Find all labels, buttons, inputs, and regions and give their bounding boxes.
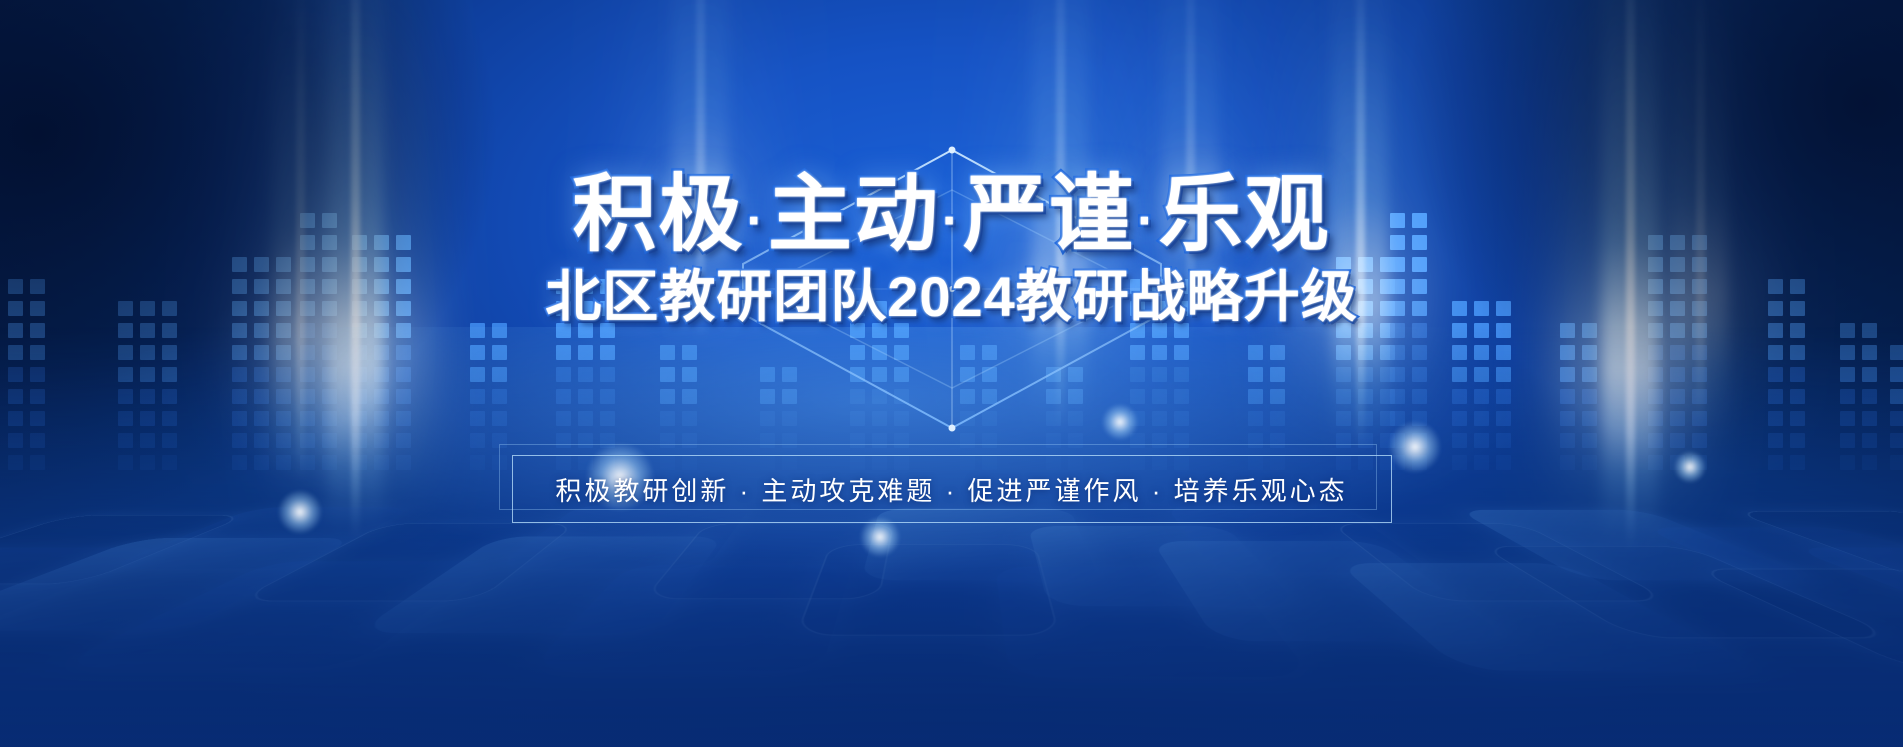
page-subtitle: 北区教研团队2024教研战略升级 xyxy=(545,266,1358,328)
page-title: 积极·主动·严谨·乐观 xyxy=(572,172,1330,256)
tagline-frame: 积极教研创新 · 主动攻克难题 · 促进严谨作风 · 培养乐观心态 xyxy=(512,455,1392,523)
title-word: 主动 xyxy=(768,167,940,261)
title-separator-dot: · xyxy=(1135,192,1158,250)
title-separator-dot: · xyxy=(940,192,963,250)
tagline-text: 积极教研创新 · 主动攻克难题 · 促进严谨作风 · 培养乐观心态 xyxy=(555,471,1347,508)
title-word: 积极 xyxy=(572,167,744,261)
title-word: 严谨 xyxy=(963,167,1135,261)
title-separator-dot: · xyxy=(744,192,767,250)
title-word: 乐观 xyxy=(1159,167,1331,261)
banner-content: 积极·主动·严谨·乐观 北区教研团队2024教研战略升级 xyxy=(0,0,1903,747)
banner-root: 积极·主动·严谨·乐观 北区教研团队2024教研战略升级 积极教研创新 · 主动… xyxy=(0,0,1903,747)
